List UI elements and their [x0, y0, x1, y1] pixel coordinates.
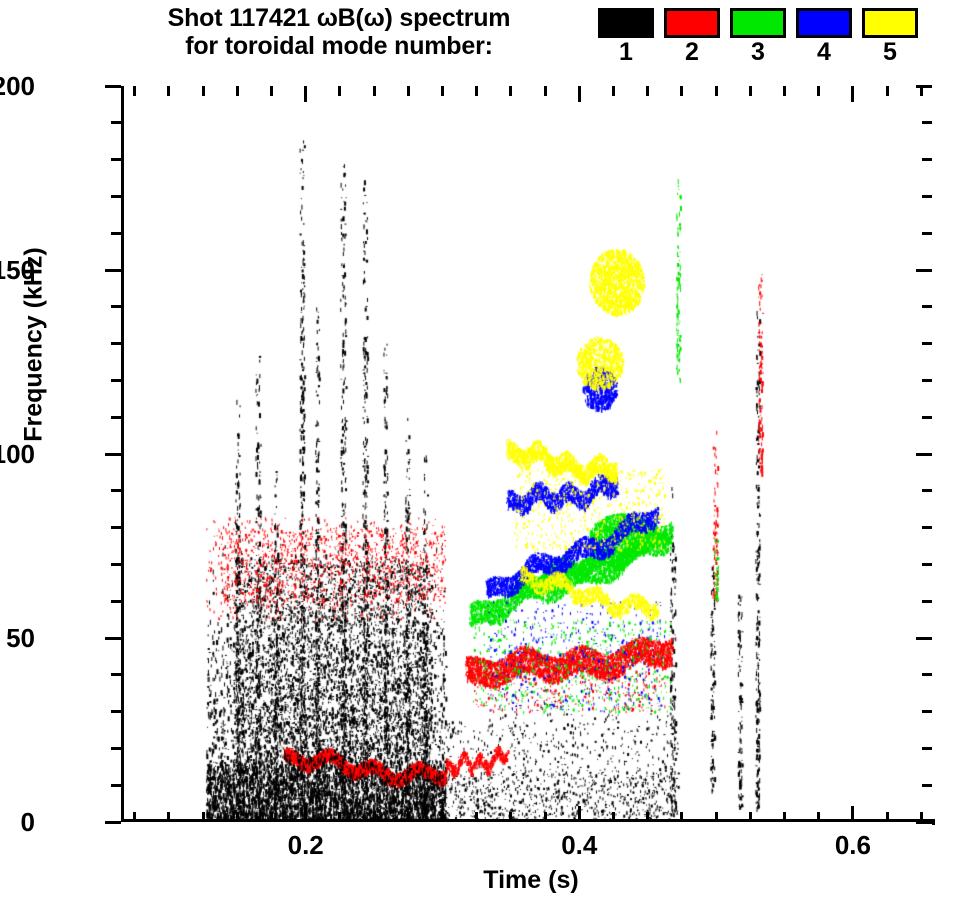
- x-tick-0.250: [373, 812, 376, 822]
- x-tick-top-0.175: [270, 86, 273, 96]
- x-tick-top-0.150: [236, 86, 239, 96]
- legend-swatch-2: [664, 8, 720, 38]
- x-tick-top-0.225: [338, 86, 341, 96]
- y-tick-right-150: [916, 269, 932, 272]
- legend-swatch-1: [598, 8, 654, 38]
- y-tick-200: [105, 85, 121, 88]
- title-line-1: Shot 117421 ωB(ω) spectrum: [104, 4, 574, 32]
- y-tick-right-120: [922, 379, 932, 382]
- y-tick-right-10: [922, 784, 932, 787]
- y-tick-140: [111, 305, 121, 308]
- spectrogram-plot-area: [121, 86, 935, 822]
- y-tick-150: [105, 269, 121, 272]
- x-tick-top-0.275: [407, 86, 410, 96]
- y-tick-right-130: [922, 342, 932, 345]
- y-tick-170: [111, 195, 121, 198]
- y-tick-40: [111, 673, 121, 676]
- x-tick-0.100: [167, 812, 170, 822]
- x-tick-top-0.550: [783, 86, 786, 96]
- y-tick-right-140: [922, 305, 932, 308]
- y-tick-20: [111, 747, 121, 750]
- x-tick-top-0.075: [133, 86, 136, 96]
- x-tick-0.475: [680, 812, 683, 822]
- x-tick-0.200: [304, 806, 307, 822]
- x-tick-0.425: [612, 812, 615, 822]
- y-tick-right-30: [922, 710, 932, 713]
- x-tick-top-0.200: [304, 86, 307, 102]
- x-tick-label-0.4: 0.4: [519, 832, 639, 858]
- x-tick-0.650: [920, 812, 923, 822]
- y-tick-60: [111, 600, 121, 603]
- x-tick-0.125: [202, 812, 205, 822]
- x-tick-0.150: [236, 812, 239, 822]
- x-tick-0.500: [715, 812, 718, 822]
- x-tick-0.325: [475, 812, 478, 822]
- x-tick-0.225: [338, 812, 341, 822]
- x-tick-0.300: [441, 812, 444, 822]
- x-tick-0.625: [886, 812, 889, 822]
- x-tick-top-0.525: [749, 86, 752, 96]
- x-tick-0.400: [578, 806, 581, 822]
- legend-item-4[interactable]: 4: [796, 8, 852, 65]
- y-tick-right-50: [916, 637, 932, 640]
- x-tick-label-0.2: 0.2: [246, 832, 366, 858]
- y-tick-120: [111, 379, 121, 382]
- y-tick-right-20: [922, 747, 932, 750]
- x-tick-0.600: [851, 806, 854, 822]
- y-tick-10: [111, 784, 121, 787]
- x-tick-label-0.6: 0.6: [793, 832, 913, 858]
- x-tick-0.175: [270, 812, 273, 822]
- y-tick-right-90: [922, 489, 932, 492]
- y-axis-title: Frequency (kHz): [20, 215, 49, 475]
- y-tick-right-160: [922, 232, 932, 235]
- spectrogram-canvas: [124, 86, 935, 822]
- x-tick-0.075: [133, 812, 136, 822]
- x-tick-top-0.450: [646, 86, 649, 96]
- x-tick-top-0.400: [578, 86, 581, 102]
- legend-item-5[interactable]: 5: [862, 8, 918, 65]
- y-tick-label-0: 0: [21, 809, 35, 835]
- y-tick-right-170: [922, 195, 932, 198]
- x-tick-top-0.600: [851, 86, 854, 102]
- y-tick-right-80: [922, 526, 932, 529]
- y-tick-right-0: [916, 821, 932, 824]
- y-tick-80: [111, 526, 121, 529]
- x-tick-top-0.375: [544, 86, 547, 96]
- legend-label-4: 4: [796, 40, 852, 65]
- legend-item-3[interactable]: 3: [730, 8, 786, 65]
- y-tick-label-50: 50: [6, 625, 35, 651]
- x-tick-top-0.350: [509, 86, 512, 96]
- x-tick-top-0.325: [475, 86, 478, 96]
- x-tick-0.275: [407, 812, 410, 822]
- x-tick-0.375: [544, 812, 547, 822]
- y-tick-right-40: [922, 673, 932, 676]
- y-tick-160: [111, 232, 121, 235]
- y-tick-right-70: [922, 563, 932, 566]
- x-tick-top-0.625: [886, 86, 889, 96]
- x-tick-top-0.125: [202, 86, 205, 96]
- x-tick-0.525: [749, 812, 752, 822]
- legend-swatch-3: [730, 8, 786, 38]
- y-tick-right-180: [922, 158, 932, 161]
- legend-item-1[interactable]: 1: [598, 8, 654, 65]
- y-tick-110: [111, 416, 121, 419]
- y-tick-0: [105, 821, 121, 824]
- x-axis-title: Time (s): [331, 866, 731, 895]
- y-tick-130: [111, 342, 121, 345]
- legend-swatch-5: [862, 8, 918, 38]
- y-tick-right-100: [916, 453, 932, 456]
- x-tick-0.450: [646, 812, 649, 822]
- legend: 12345: [598, 8, 928, 74]
- x-tick-0.575: [817, 812, 820, 822]
- y-tick-190: [111, 121, 121, 124]
- legend-label-2: 2: [664, 40, 720, 65]
- y-tick-right-110: [922, 416, 932, 419]
- y-tick-100: [105, 453, 121, 456]
- figure-title: Shot 117421 ωB(ω) spectrum for toroidal …: [104, 4, 574, 60]
- x-tick-top-0.650: [920, 86, 923, 96]
- y-tick-70: [111, 563, 121, 566]
- y-tick-right-200: [916, 85, 932, 88]
- x-tick-top-0.300: [441, 86, 444, 96]
- legend-label-3: 3: [730, 40, 786, 65]
- y-tick-180: [111, 158, 121, 161]
- y-tick-90: [111, 489, 121, 492]
- legend-label-5: 5: [862, 40, 918, 65]
- y-tick-right-190: [922, 121, 932, 124]
- x-tick-top-0.100: [167, 86, 170, 96]
- x-tick-top-0.500: [715, 86, 718, 96]
- y-tick-30: [111, 710, 121, 713]
- legend-item-2[interactable]: 2: [664, 8, 720, 65]
- figure-header: Shot 117421 ωB(ω) spectrum for toroidal …: [0, 0, 963, 80]
- x-tick-0.550: [783, 812, 786, 822]
- x-tick-top-0.425: [612, 86, 615, 96]
- legend-swatch-4: [796, 8, 852, 38]
- title-line-2: for toroidal mode number:: [104, 32, 574, 60]
- x-tick-top-0.475: [680, 86, 683, 96]
- y-tick-right-60: [922, 600, 932, 603]
- y-tick-50: [105, 637, 121, 640]
- legend-label-1: 1: [598, 40, 654, 65]
- x-tick-0.350: [509, 812, 512, 822]
- x-tick-top-0.250: [373, 86, 376, 96]
- y-tick-label-200: 200: [0, 73, 35, 99]
- x-tick-top-0.575: [817, 86, 820, 96]
